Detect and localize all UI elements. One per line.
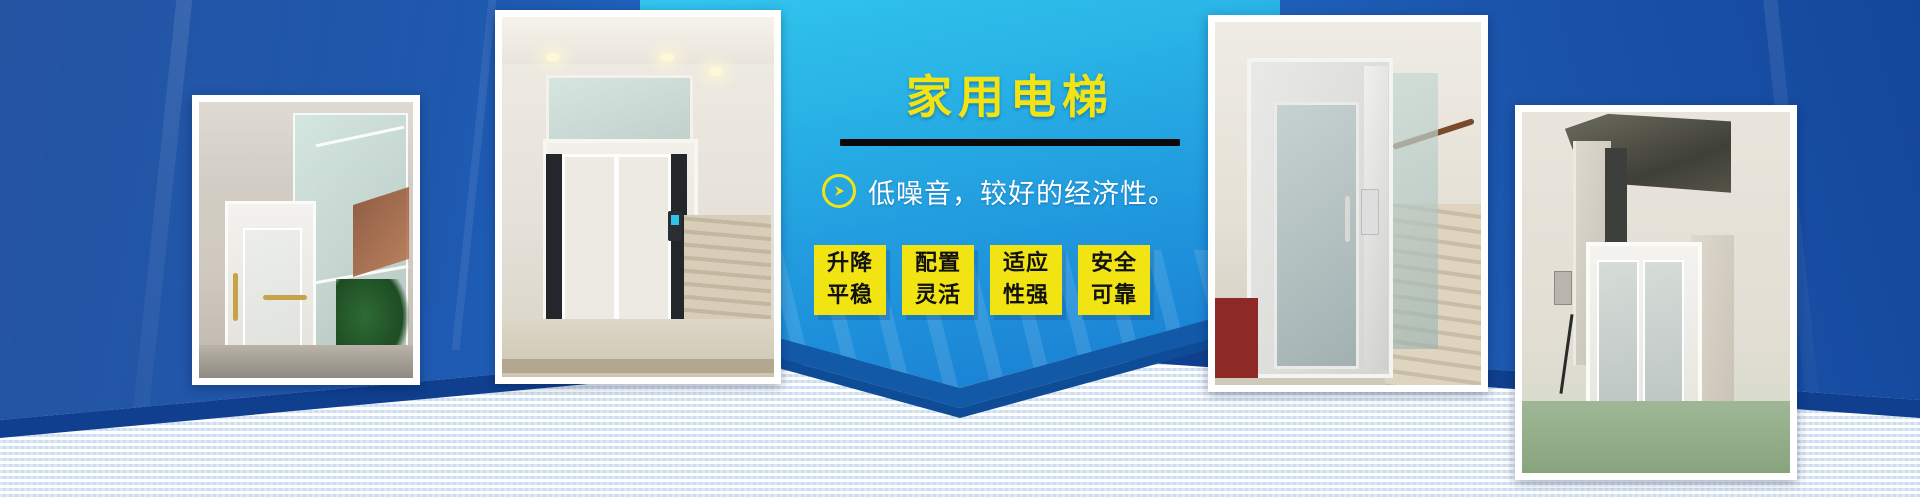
circle-arrow-right-icon: [822, 174, 856, 208]
photo-home-elevator-installation: [1515, 105, 1797, 480]
photo-2-cab-door-left: [562, 154, 617, 333]
feature-tag-1-line1: 升降: [827, 248, 873, 280]
photo-2-downlight-3: [709, 67, 723, 76]
subtitle-row: 低噪音，较好的经济性。: [822, 172, 1220, 211]
feature-tag-3-line1: 适应: [1003, 248, 1049, 280]
photo-2-cab-door-right: [616, 154, 671, 333]
photo-3-door-handle: [1345, 196, 1350, 242]
page-title: 家用电梯: [800, 72, 1220, 123]
photo-4-content: [1522, 112, 1790, 473]
photo-3-content: [1215, 22, 1481, 385]
feature-tag-4-line1: 安全: [1091, 248, 1137, 280]
feature-tag-3[interactable]: 适应 性强: [990, 245, 1062, 315]
feature-tag-2-line1: 配置: [915, 248, 961, 280]
photo-2-content: [502, 17, 774, 377]
photo-2-staircase: [684, 215, 771, 330]
photo-2-ceiling: [502, 17, 774, 64]
title-divider: [840, 139, 1180, 146]
feature-tag-4-line2: 可靠: [1091, 280, 1137, 312]
photo-4-cable: [1559, 314, 1573, 394]
photo-2-machine-glass-box: [546, 75, 693, 146]
photo-4-floor: [1522, 401, 1790, 473]
feature-tag-list: 升降 平稳 配置 灵活 适应 性强 安全 可靠: [814, 245, 1220, 315]
photo-1-door-handle: [233, 273, 238, 321]
home-elevator-banner: 家用电梯 低噪音，较好的经济性。 升降 平稳 配置 灵活 适应 性强: [0, 0, 1920, 500]
photo-1-door-pushbar: [263, 295, 307, 300]
photo-home-elevator-stainless-stairs: [1208, 15, 1488, 392]
photo-home-elevator-glass-shaft: [192, 95, 420, 385]
photo-3-control-panel: [1361, 189, 1379, 235]
feature-tag-2-line2: 灵活: [915, 280, 961, 312]
feature-tag-1[interactable]: 升降 平稳: [814, 245, 886, 315]
photo-1-content: [199, 102, 413, 378]
feature-tag-2[interactable]: 配置 灵活: [902, 245, 974, 315]
photo-2-control-panel: [668, 211, 682, 241]
feature-tag-3-line2: 性强: [1003, 280, 1049, 312]
feature-tag-4[interactable]: 安全 可靠: [1078, 245, 1150, 315]
photo-2-downlight-1: [546, 53, 560, 62]
photo-4-wall-control: [1554, 271, 1572, 305]
photo-2-shaft-left: [546, 154, 562, 327]
photo-1-floor: [199, 345, 413, 378]
text-block: 家用电梯 低噪音，较好的经济性。 升降 平稳 配置 灵活 适应 性强: [800, 72, 1220, 315]
photo-2-floor-trim: [502, 359, 774, 373]
feature-tag-1-line2: 平稳: [827, 280, 873, 312]
photo-2-downlight-2: [660, 53, 674, 62]
photo-3-sofa: [1215, 298, 1258, 378]
subtitle-text: 低噪音，较好的经济性。: [868, 172, 1176, 211]
photo-home-elevator-villa-lobby: [495, 10, 781, 384]
